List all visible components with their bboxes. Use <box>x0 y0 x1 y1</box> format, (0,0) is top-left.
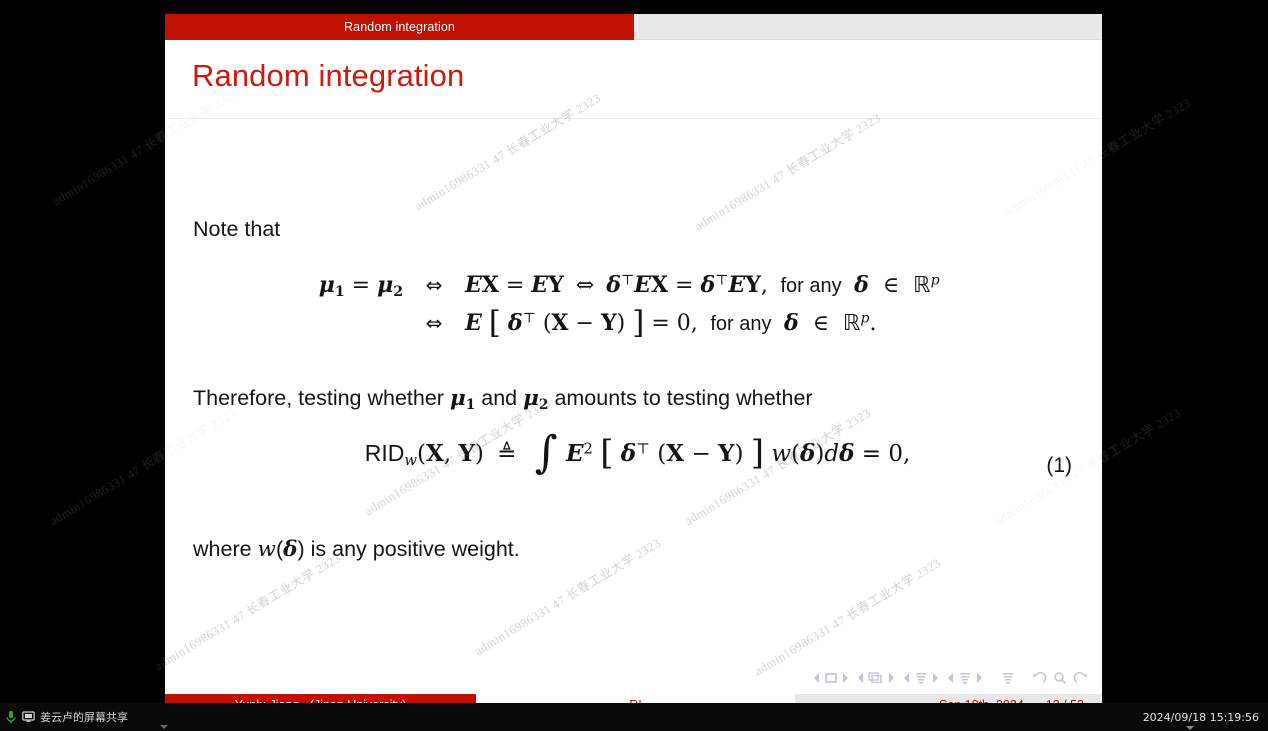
equation-row-2-iff: ⇔ <box>403 311 465 335</box>
beamer-navigation-symbols[interactable] <box>812 671 1088 685</box>
equation-row-2-rhs: E [ δ⊤ (X − Y) ] = 0, for any δ ∈ ℝp. <box>465 310 876 336</box>
display-equation-block: RIDw(X, Y) ≜ ∫ E2 [ δ⊤ (X − Y) ] w(δ)dδ … <box>165 440 1102 469</box>
equation-row-1-rhs: EX = EY ⇔ δ⊤EX = δ⊤EY, for any δ ∈ ℝp <box>465 272 940 298</box>
nav-section-icon[interactable] <box>957 671 973 685</box>
display-equation: RIDw(X, Y) ≜ ∫ E2 [ δ⊤ (X − Y) ] w(δ)dδ … <box>165 440 1102 469</box>
presentation-slide: Random integration Random integration No… <box>165 14 1102 717</box>
nav-frame-icon[interactable] <box>867 671 885 685</box>
nav-group-section[interactable] <box>946 671 984 685</box>
nav-forward-icon[interactable] <box>1073 671 1088 685</box>
note-that-text: Note that <box>193 217 280 242</box>
taskbar-share-indicator[interactable]: 姜云卢的屏幕共享 <box>0 709 128 725</box>
os-taskbar: 姜云卢的屏幕共享 2024/09/18 15:19:56 <box>0 703 1268 731</box>
nav-doc-icon[interactable] <box>1000 671 1016 685</box>
equivalence-equation-block: μ1 = μ2 ⇔ EX = EY ⇔ δ⊤EX = δ⊤EY, for any <box>165 272 1102 336</box>
therefore-text: Therefore, testing whether μ1 and μ2 amo… <box>193 386 813 413</box>
nav-subsection-icon[interactable] <box>913 671 929 685</box>
nav-frame-prev-icon[interactable] <box>856 672 865 684</box>
slide-body: Note that μ1 = μ2 ⇔ EX = EY ⇔ δ⊤ <box>165 122 1102 694</box>
headline-section-tab[interactable]: Random integration <box>165 14 634 40</box>
nav-search-icon[interactable] <box>1053 671 1067 685</box>
nav-slide-next-icon[interactable] <box>841 672 850 684</box>
nav-subsection-prev-icon[interactable] <box>902 672 911 684</box>
desktop-screen: Random integration Random integration No… <box>0 0 1268 731</box>
taskbar-clock-caret-icon <box>1186 726 1194 730</box>
taskbar-clock[interactable]: 2024/09/18 15:19:56 <box>1143 711 1259 724</box>
nav-back-icon[interactable] <box>1032 671 1047 685</box>
nav-group-subsection[interactable] <box>902 671 940 685</box>
equation-row-1-iff: ⇔ <box>403 273 465 297</box>
taskbar-caret-icon <box>160 725 168 729</box>
nav-slide-prev-icon[interactable] <box>812 672 821 684</box>
equation-number: (1) <box>1046 454 1072 478</box>
equation-row-1: μ1 = μ2 ⇔ EX = EY ⇔ δ⊤EX = δ⊤EY, for any <box>165 272 1102 300</box>
beamer-headline-bar: Random integration <box>165 14 1102 40</box>
taskbar-share-label: 姜云卢的屏幕共享 <box>40 709 128 725</box>
monitor-icon[interactable] <box>22 711 35 723</box>
title-divider <box>165 118 1102 119</box>
frame-title: Random integration <box>192 58 464 94</box>
where-weight-text: where w(δ) is any positive weight. <box>193 537 520 562</box>
microphone-icon[interactable] <box>5 710 17 724</box>
nav-group-frame[interactable] <box>856 671 896 685</box>
nav-group-slide[interactable] <box>812 671 850 685</box>
headline-inactive-region <box>634 14 1102 40</box>
nav-section-next-icon[interactable] <box>975 672 984 684</box>
nav-subsection-next-icon[interactable] <box>931 672 940 684</box>
nav-frame-next-icon[interactable] <box>887 672 896 684</box>
equation-row-1-lhs: μ1 = μ2 <box>165 272 403 300</box>
nav-section-prev-icon[interactable] <box>946 672 955 684</box>
nav-slide-icon[interactable] <box>823 671 839 685</box>
equation-row-2: ⇔ E [ δ⊤ (X − Y) ] = 0, for any δ ∈ ℝp. <box>165 310 1102 336</box>
